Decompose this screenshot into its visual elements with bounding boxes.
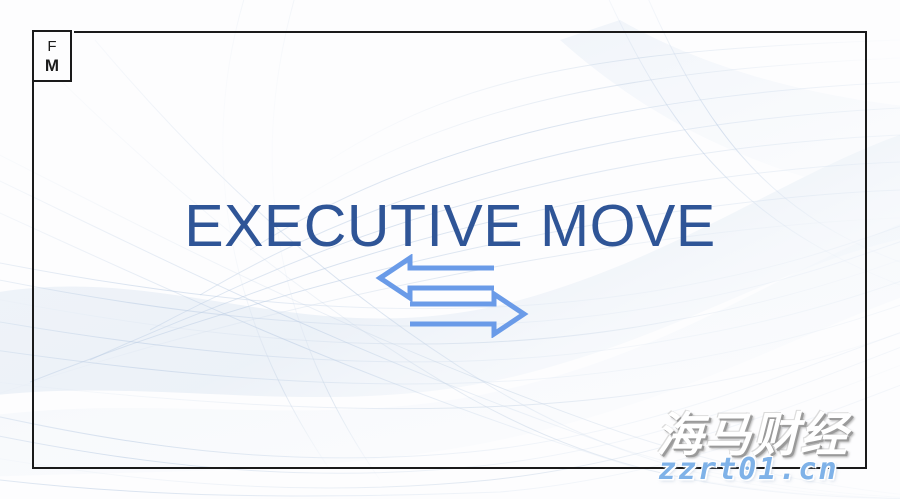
frame-border-left <box>32 82 34 469</box>
watermark: 海马财经 zzrt01.cn <box>650 396 900 499</box>
fm-logo: F M <box>32 30 72 82</box>
slide-canvas: F M EXECUTIVE MOVE 海马财经 zzrt01.cn <box>0 0 900 499</box>
frame-border-bottom <box>32 467 867 469</box>
exchange-arrows-icon <box>374 254 530 338</box>
watermark-brand-cn: 海马财经 <box>656 396 848 465</box>
watermark-url: zzrt01.cn <box>658 452 839 487</box>
frame-border-top <box>74 31 867 33</box>
logo-letter-f: F <box>47 39 56 54</box>
logo-letter-m: M <box>45 57 59 74</box>
page-title: EXECUTIVE MOVE <box>0 192 900 260</box>
